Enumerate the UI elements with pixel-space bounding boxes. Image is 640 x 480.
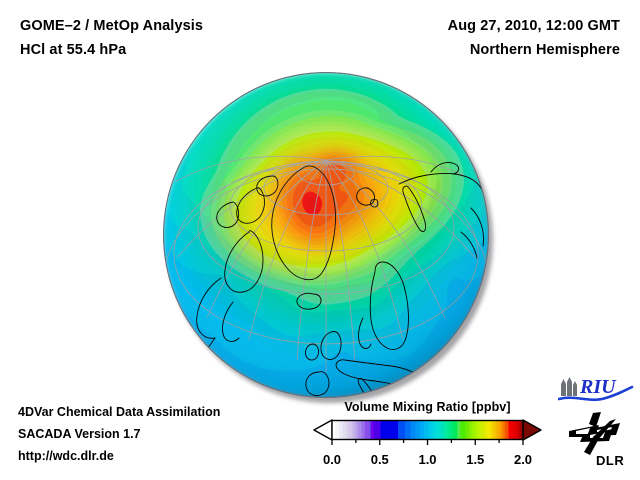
colorbar-gradient: [332, 421, 523, 440]
colorbar-tick-3: 1.5: [466, 452, 484, 467]
riu-logo-text: RIU: [579, 376, 617, 398]
colorbar-under-arrow: [314, 420, 332, 440]
assimilation-label: 4DVar Chemical Data Assimilation: [18, 401, 220, 423]
globe-limb-shading: [163, 72, 489, 398]
globe-data-layer: [163, 72, 489, 398]
dlr-logo-svg: DLR: [566, 411, 632, 469]
globe-map: [163, 72, 489, 398]
colorbar-ticks: [332, 440, 523, 446]
colorbar-graphic: [310, 418, 545, 451]
footer-credits: 4DVar Chemical Data Assimilation SACADA …: [18, 401, 220, 467]
colorbar-tick-2: 1.0: [418, 452, 436, 467]
dlr-logo: DLR: [566, 411, 632, 469]
globe-svg: [163, 72, 489, 398]
header-left-block: GOME–2 / MetOp Analysis HCl at 55.4 hPa: [20, 14, 203, 62]
colorbar-tick-1: 0.5: [371, 452, 389, 467]
version-label: SACADA Version 1.7: [18, 423, 220, 445]
timestamp-label: Aug 27, 2010, 12:00 GMT: [448, 14, 620, 38]
globe-disc: [163, 72, 489, 398]
colorbar-tick-labels: 0.0 0.5 1.0 1.5 2.0: [310, 452, 545, 470]
website-url[interactable]: http://wdc.dlr.de: [18, 445, 220, 467]
page-subtitle-species: HCl at 55.4 hPa: [20, 38, 203, 62]
riu-logo-svg: RIU: [558, 374, 634, 404]
riu-tower-icon: [561, 377, 577, 396]
header-right-block: Aug 27, 2010, 12:00 GMT Northern Hemisph…: [448, 14, 620, 62]
dlr-logo-text: DLR: [596, 453, 624, 468]
colorbar-block: Volume Mixing Ratio [ppbv]: [310, 400, 545, 470]
dlr-mark-icon: [569, 412, 620, 455]
visualization-page: GOME–2 / MetOp Analysis HCl at 55.4 hPa …: [0, 0, 640, 480]
colorbar-svg: [310, 418, 545, 446]
colorbar-tick-4: 2.0: [514, 452, 532, 467]
colorbar-over-arrow: [523, 420, 541, 440]
page-title: GOME–2 / MetOp Analysis: [20, 14, 203, 38]
riu-logo: RIU: [558, 374, 634, 404]
hemisphere-label: Northern Hemisphere: [448, 38, 620, 62]
colorbar-tick-0: 0.0: [323, 452, 341, 467]
colorbar-title: Volume Mixing Ratio [ppbv]: [310, 400, 545, 414]
